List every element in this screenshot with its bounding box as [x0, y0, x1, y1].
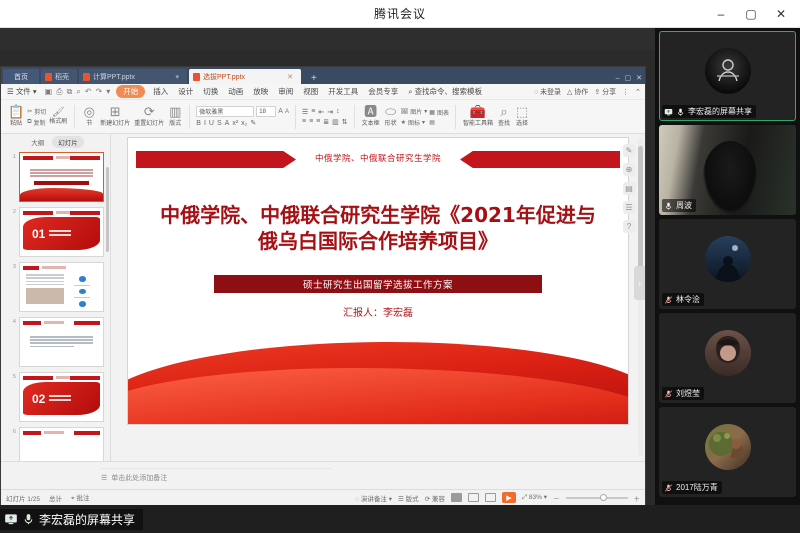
share-top-strip [0, 28, 655, 50]
help-icon[interactable]: ? [623, 220, 636, 233]
numbering-icon[interactable]: ≡ [311, 108, 315, 115]
decor-bar [74, 431, 100, 435]
layout-status-button[interactable]: ☰ 版式 [398, 493, 419, 503]
section-icon: ◎ [84, 105, 95, 120]
decor-dot [79, 289, 86, 295]
decor-bar [23, 431, 41, 435]
section-button[interactable]: ◎ 节 [81, 105, 97, 128]
participant-name: 周波 [676, 200, 692, 211]
charts-button[interactable]: ▦ 图表 [429, 108, 449, 117]
avatar-photo-icon [705, 424, 751, 470]
ribbon-more-icon[interactable]: ⋮ [622, 88, 629, 96]
thumbnail-row[interactable]: 2 01 [10, 207, 104, 257]
divider [354, 105, 355, 129]
font-name-input[interactable]: 微软雅黑 [196, 106, 254, 117]
shapes-button[interactable]: ⬭ 形状 [383, 105, 399, 128]
view-reading-button[interactable] [485, 493, 496, 502]
zoom-out-button[interactable]: － [553, 493, 560, 503]
decor-bar [70, 211, 100, 215]
new-tab-button[interactable]: + [306, 73, 322, 84]
decor-lines [30, 336, 93, 349]
canvas-side-toolbar: ✎ ⊕ ▤ ☰ ? [622, 144, 636, 233]
microphone-muted-icon [664, 483, 673, 493]
decor-band [34, 181, 89, 185]
thumbnail-row[interactable]: 1 [10, 152, 104, 202]
shrink-font-icon[interactable]: A [285, 109, 289, 115]
divider [189, 105, 190, 129]
decor-wave [20, 188, 103, 201]
align-center-icon[interactable]: ≡ [309, 118, 313, 125]
bullets-icon[interactable]: ☰ [302, 108, 308, 116]
decor-header [56, 376, 70, 379]
thumbnail-row[interactable]: 5 02 [10, 372, 104, 422]
wps-minimize-icon[interactable]: – [616, 75, 620, 82]
file-menu-button[interactable]: ☰ 文件 ▾ [5, 85, 39, 98]
participant-tile-2[interactable]: 林令浍 [659, 219, 796, 309]
decor-bar [23, 321, 41, 325]
insert-group: 🅰 文本框 ⬭ 形状 🖼 图片 ▾ ★ 图标 ▾ ▦ 图表 ▤ [358, 101, 452, 133]
compat-status-button[interactable]: ⟳ 兼容 [425, 493, 445, 503]
decor-bar [23, 266, 39, 270]
avatar [705, 424, 751, 470]
ribbon-tab-insert[interactable]: 插入 [151, 85, 170, 98]
decor-header [44, 431, 64, 434]
participant-label: 林令浍 [662, 293, 704, 306]
zoom-in-button[interactable]: ＋ [634, 493, 641, 503]
strikethrough-button[interactable]: S [217, 120, 222, 127]
ribbon-tab-member[interactable]: 会员专享 [366, 85, 400, 98]
wps-window-controls: – ▢ ✕ [616, 74, 642, 82]
microphone-muted-icon [664, 295, 673, 305]
line-spacing-icon[interactable]: ↕ [336, 108, 340, 115]
participant-name: 李宏磊的屏幕共享 [688, 106, 752, 117]
fit-to-window-button[interactable]: ⤢ 83% ▾ [522, 493, 547, 502]
tab-outline[interactable]: 大纲 [27, 136, 48, 148]
brush-icon: 🖌 [52, 107, 65, 119]
search-icon[interactable]: ⌕ [76, 87, 80, 97]
decor-bar [70, 376, 100, 380]
ppt-icon [193, 73, 200, 81]
zoom-slider[interactable] [566, 497, 628, 499]
participant-label: 周波 [662, 199, 696, 212]
participant-tile-0[interactable]: 李宏磊的屏幕共享 [659, 31, 796, 121]
avatar [705, 236, 751, 282]
zoom-slider-handle[interactable] [600, 494, 607, 501]
account-status[interactable]: ◌ 未登录 [534, 87, 561, 97]
font-group: 微软雅黑 18 A A B I U S A x² x₂ [193, 101, 292, 133]
justify-icon[interactable]: ≣ [323, 118, 329, 126]
decor-bar [23, 156, 53, 160]
share-status-pill: 李宏磊的屏幕共享 [0, 509, 143, 530]
participant-name: 林令浍 [676, 294, 700, 305]
bottom-share-label: 李宏磊的屏幕共享 [39, 511, 135, 528]
thumbnail-number: 5 [10, 372, 16, 422]
textbox-button[interactable]: 🅰 文本框 [361, 105, 381, 128]
decor-lines [30, 169, 93, 179]
thumbnail-tabs: 大纲 幻灯片 [1, 134, 110, 149]
start-slideshow-button[interactable]: ▶ [502, 492, 516, 503]
save-icon[interactable]: ▣ [45, 87, 53, 96]
microphone-icon [676, 107, 685, 117]
wps-presentation-window: 首页 稻壳 计算PPT.pptx ▾ 选拔PPT.pptx ✕ + – [0, 66, 646, 516]
toolbox-icon: 🧰 [470, 105, 486, 120]
decrease-indent-icon[interactable]: ⇤ [318, 108, 324, 116]
collaborate-button[interactable]: △ 协作 [567, 87, 588, 97]
ribbon-tab-transition[interactable]: 切换 [201, 85, 220, 98]
search-icon: ⌕ [500, 105, 507, 120]
find-button[interactable]: ⌕ 查找 [496, 105, 512, 128]
format-painter-button[interactable]: 🖌 格式刷 [48, 107, 68, 126]
ribbon-tab-docer[interactable]: ⌕ 查找命令、搜索模板 [406, 85, 484, 98]
maximize-button[interactable]: ▢ [736, 1, 766, 27]
close-icon[interactable]: ✕ [287, 73, 293, 81]
wps-home-tab[interactable]: 首页 [3, 69, 39, 84]
app-title: 腾讯会议 [374, 5, 426, 22]
decor-dot [79, 276, 86, 282]
participant-tile-1[interactable]: 周波 [659, 125, 796, 215]
text-highlight-icon[interactable]: ✎ [250, 119, 256, 127]
underline-button[interactable]: U [209, 120, 214, 127]
slides-group: ◎ 节 ⊞ 新建幻灯片 ⟳ 重置幻灯片 ▥ 版式 [78, 101, 186, 133]
slide-kicker-text: 中俄学院、中俄联合研究生学院 [128, 152, 628, 164]
status-right-group: ◌ 演讲备注 ▾ ☰ 版式 ⟳ 兼容 ▶ ⤢ 83% ▾ － ＋ [355, 492, 640, 503]
participant-tile-3[interactable]: 刘煜莹 [659, 313, 796, 403]
redo-icon[interactable]: ↷ [96, 87, 103, 96]
italic-button[interactable]: I [204, 120, 206, 127]
wps-maximize-icon[interactable]: ▢ [625, 74, 632, 82]
select-icon: ⬚ [516, 105, 528, 120]
tools-group: 🧰 智能工具箱 ⌕ 查找 ⬚ 选择 [459, 101, 533, 133]
decor-header [42, 266, 66, 269]
subscript-icon[interactable]: x₂ [241, 120, 247, 127]
thumbnail-row[interactable]: 3 [10, 262, 104, 312]
screen-share-icon [664, 107, 673, 117]
ribbon-tab-animation[interactable]: 动画 [226, 85, 245, 98]
thumbnail-number: 1 [10, 152, 16, 202]
ribbon-tab-design[interactable]: 设计 [176, 85, 195, 98]
select-button[interactable]: ⬚ 选择 [514, 105, 530, 128]
next-slide-button[interactable]: › [634, 266, 645, 300]
preview-icon[interactable]: ⧉ [67, 87, 73, 97]
thumbnail-row[interactable]: 6 [10, 427, 104, 461]
section-block: 01 [23, 217, 100, 250]
notes-icon: ☰ [101, 474, 107, 482]
microphone-muted-icon [664, 389, 673, 399]
align-right-icon[interactable]: ≡ [316, 118, 320, 125]
slide-canvas-pane[interactable]: 中俄学院、中俄联合研究生学院 中俄学院、中俄联合研究生学院《2021年促进与俄乌… [111, 134, 645, 461]
bold-button[interactable]: B [196, 120, 201, 127]
avatar-sketch-icon [711, 54, 745, 88]
participant-name: 2017陆万青 [676, 482, 718, 493]
icons-button[interactable]: ★ 图标 ▾ [401, 118, 428, 127]
screen-share-icon [4, 512, 18, 526]
wps-tab-label: 选拔PPT.pptx [203, 72, 245, 82]
ribbon-right-actions: ◌ 未登录 △ 协作 ⇪ 分享 ⋮ ⌃ [534, 84, 641, 100]
divider [455, 105, 456, 129]
font-size-input[interactable]: 18 [256, 106, 276, 117]
ribbon-tab-review[interactable]: 审阅 [276, 85, 295, 98]
ppt-icon [83, 73, 90, 81]
divider [295, 105, 296, 129]
list-icon[interactable]: ☰ [623, 201, 636, 214]
wps-tab-0[interactable]: 稻壳 [41, 69, 77, 84]
text-effects-button[interactable]: A [225, 120, 230, 127]
ribbon-tab-view[interactable]: 视图 [301, 85, 320, 98]
content-block [26, 274, 97, 307]
textbox-icon: 🅰 [364, 105, 377, 120]
decor-header [56, 211, 70, 214]
thumbnail-number: 4 [10, 317, 16, 367]
wps-tab-label: 稻壳 [55, 72, 69, 82]
quick-access-toolbar: ▣ ⎙ ⧉ ⌕ ↶ ↷ ▾ [45, 87, 111, 97]
thumb-photo [26, 288, 64, 304]
clipboard-group: 📋 粘贴 ✂ 剪切 ⧉ 复制 🖌 格式刷 [4, 101, 71, 133]
decor-bar [23, 211, 53, 215]
decor-header [44, 321, 64, 324]
minimize-button[interactable]: – [706, 1, 736, 27]
shared-screen-stage[interactable]: 首页 稻壳 计算PPT.pptx ▾ 选拔PPT.pptx ✕ + – [0, 28, 655, 505]
ribbon-toolbar: 📋 粘贴 ✂ 剪切 ⧉ 复制 🖌 格式刷 ◎ [1, 100, 645, 134]
print-icon[interactable]: ⎙ [56, 87, 62, 97]
new-slide-icon: ⊞ [110, 105, 121, 120]
thumbnail-scrollbar[interactable] [106, 167, 109, 252]
section-block: 02 [23, 382, 100, 415]
thumbnail-slide-2[interactable]: 01 [19, 207, 104, 257]
avatar-photo-icon [705, 236, 751, 282]
thumbnail-number: 3 [10, 262, 16, 312]
paragraph-group: ☰ ≡ ⇤ ⇥ ↕ ≡ ≡ ≡ ≣ ▥ ⇅ [299, 101, 351, 133]
slide-canvas[interactable]: 中俄学院、中俄联合研究生学院 中俄学院、中俄联合研究生学院《2021年促进与俄乌… [128, 138, 628, 424]
ribbon-tab-slideshow[interactable]: 放映 [251, 85, 270, 98]
decor-bar [74, 321, 100, 325]
thumbnail-number: 2 [10, 207, 16, 257]
section-number: 02 [32, 393, 45, 405]
wps-status-bar: 幻灯片 1/25 总计 ⌖ 批注 ◌ 演讲备注 ▾ ☰ 版式 ⟳ 兼容 ▶ ⤢ … [1, 489, 645, 505]
notes-placeholder[interactable]: 单击此处添加备注 [111, 473, 167, 483]
reset-icon: ⟳ [144, 105, 155, 120]
align-left-icon[interactable]: ≡ [302, 118, 306, 125]
decor-bar [23, 376, 53, 380]
ribbon-tab-developer[interactable]: 开发工具 [326, 85, 360, 98]
new-slide-button[interactable]: ⊞ 新建幻灯片 [99, 105, 131, 128]
docs-icon [45, 73, 52, 81]
participant-label: 2017陆万青 [662, 481, 722, 494]
ribbon-menu-row: ☰ 文件 ▾ ▣ ⎙ ⧉ ⌕ ↶ ↷ ▾ 开始 插入 设计 切换 动画 放映 审… [1, 84, 645, 100]
slide-thumbnails-pane[interactable]: 大纲 幻灯片 1 [1, 134, 111, 461]
participant-rail[interactable]: 李宏磊的屏幕共享 周波 [655, 28, 800, 505]
slide-presenter-text[interactable]: 汇报人：李宏磊 [128, 304, 628, 319]
participant-name: 刘煜莹 [676, 388, 700, 399]
pictures-button[interactable]: 🖼 图片 ▾ [401, 107, 428, 116]
decor-dot [79, 301, 86, 307]
thumbnail-slide-3[interactable] [19, 262, 104, 312]
paste-icon: 📋 [8, 105, 24, 120]
undo-icon[interactable]: ↶ [85, 87, 92, 96]
avatar [705, 330, 751, 376]
paste-button[interactable]: 📋 粘贴 [7, 105, 25, 128]
participant-tile-4[interactable]: 2017陆万青 [659, 407, 796, 497]
participant-label: 刘煜莹 [662, 387, 704, 400]
tencent-meeting-window: 腾讯会议 – ▢ ✕ 首页 稻壳 计算PPT.pptx ▾ [0, 0, 800, 533]
wps-tab-2[interactable]: 选拔PPT.pptx ✕ [189, 69, 301, 84]
slide-title-text[interactable]: 中俄学院、中俄联合研究生学院《2021年促进与俄乌白国际合作培养项目》 [156, 202, 600, 255]
thumbnail-slide-6[interactable] [19, 427, 104, 461]
thumbnail-row[interactable]: 4 [10, 317, 104, 367]
thumbnail-slide-5[interactable]: 02 [19, 372, 104, 422]
thumbnail-list[interactable]: 1 2 [1, 149, 110, 461]
qat-more-icon[interactable]: ▾ [106, 87, 110, 96]
participant-label: 李宏磊的屏幕共享 [662, 105, 756, 118]
thumbnail-slide-1[interactable] [19, 152, 104, 202]
view-note-button[interactable]: ◌ 演讲备注 ▾ [355, 493, 392, 503]
wps-tab-bar: 首页 稻壳 计算PPT.pptx ▾ 选拔PPT.pptx ✕ + – [1, 67, 645, 84]
decor-lines [49, 395, 71, 403]
increase-indent-icon[interactable]: ⇥ [327, 108, 333, 116]
section-number: 01 [32, 228, 45, 240]
spellcheck-status[interactable]: ⌖ 批注 [71, 492, 89, 503]
decor-header [56, 156, 70, 159]
thumbnail-slide-4[interactable] [19, 317, 104, 367]
reset-slide-button[interactable]: ⟳ 重置幻灯片 [133, 105, 165, 128]
wps-close-icon[interactable]: ✕ [636, 74, 642, 82]
columns-icon[interactable]: ▥ [332, 118, 339, 126]
avatar [705, 48, 751, 94]
bottom-share-bar: 李宏磊的屏幕共享 [0, 505, 800, 533]
wps-work-area: 大纲 幻灯片 1 [1, 134, 645, 461]
zoom-icon[interactable]: ⊕ [623, 163, 636, 176]
view-normal-button[interactable] [451, 493, 462, 502]
layout-icon: ▥ [169, 105, 181, 120]
avatar-photo-icon [705, 330, 751, 376]
close-button[interactable]: ✕ [766, 1, 796, 27]
slide-counter: 幻灯片 1/25 [6, 493, 40, 503]
window-controls: – ▢ ✕ [706, 0, 796, 28]
copy-button[interactable]: ⧉ 复制 [27, 118, 46, 127]
wps-tab-label: 计算PPT.pptx [93, 72, 135, 82]
title-bar: 腾讯会议 – ▢ ✕ [0, 0, 800, 28]
divider [74, 105, 75, 129]
cut-button[interactable]: ✂ 剪切 [27, 107, 46, 116]
decor-bar [70, 156, 100, 160]
ink-icon[interactable]: ✎ [623, 144, 636, 157]
microphone-icon [22, 512, 35, 526]
smart-toolbox-button[interactable]: 🧰 智能工具箱 [462, 105, 494, 128]
chevron-down-icon[interactable]: ▾ [175, 73, 179, 81]
table-button[interactable]: ▤ [429, 119, 449, 126]
superscript-icon[interactable]: x² [232, 120, 238, 127]
ribbon-collapse-icon[interactable]: ⌃ [635, 88, 641, 96]
grow-font-icon[interactable]: A [278, 108, 283, 115]
layout-button[interactable]: ▥ 版式 [167, 105, 183, 128]
text-direction-icon[interactable]: ⇅ [342, 118, 348, 126]
notes-pane[interactable]: ☰ 单击此处添加备注 [1, 461, 645, 489]
decor-lines [49, 230, 71, 238]
word-count[interactable]: 总计 [49, 493, 62, 503]
view-sorter-button[interactable] [468, 493, 479, 502]
ribbon-tab-start[interactable]: 开始 [116, 85, 145, 98]
panel-icon[interactable]: ▤ [623, 182, 636, 195]
microphone-icon [664, 201, 673, 211]
slide-subtitle-banner[interactable]: 硕士研究生出国留学选拔工作方案 [214, 275, 542, 293]
shapes-icon: ⬭ [385, 105, 396, 120]
share-button[interactable]: ⇪ 分享 [594, 87, 616, 97]
thumbnail-number: 6 [10, 427, 16, 461]
wps-tab-1[interactable]: 计算PPT.pptx ▾ [79, 69, 187, 84]
tab-slides[interactable]: 幻灯片 [52, 136, 84, 148]
